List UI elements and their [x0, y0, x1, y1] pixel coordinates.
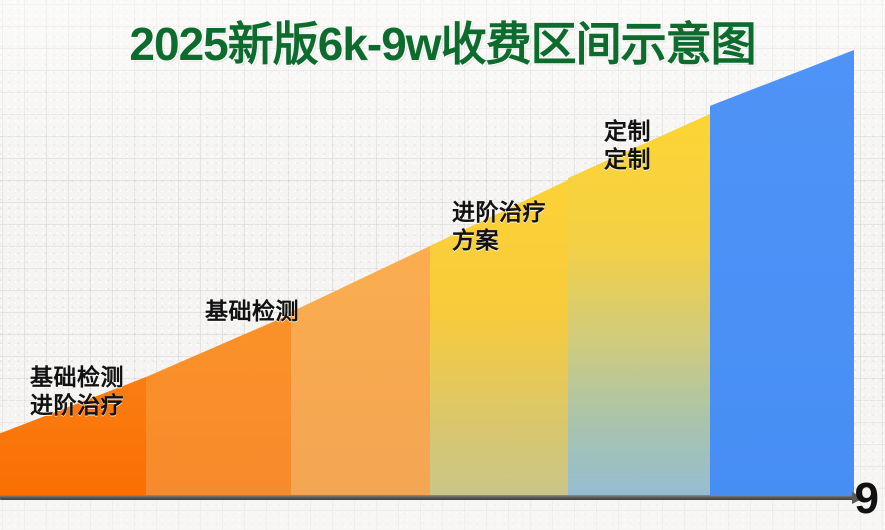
chart-segment-6[interactable]	[710, 50, 854, 497]
chart-segment-3[interactable]	[291, 246, 430, 497]
segment-label-3: 进阶治疗 方案	[452, 198, 546, 254]
segment-label-4-line2: 定制	[604, 145, 651, 173]
slide-canvas: 2025新版6k-9w收费区间示意图 基础检测	[0, 0, 885, 530]
chart-segment-6-fill	[710, 50, 854, 497]
segment-label-3-line2: 方案	[452, 226, 546, 254]
chart-segment-2[interactable]	[146, 314, 291, 497]
x-axis-line	[0, 495, 858, 500]
segment-label-1-line2: 进阶治疗	[30, 391, 124, 419]
segment-label-2: 基础检测	[205, 297, 299, 325]
page-number: 9	[855, 477, 879, 521]
segment-label-4: 定制 定制	[604, 117, 651, 173]
chart-segment-3-fill	[291, 246, 430, 497]
segment-label-2-line1: 基础检测	[205, 297, 299, 325]
segment-label-1: 基础检测 进阶治疗	[30, 363, 124, 419]
chart-segment-2-fill	[146, 314, 291, 497]
segment-label-4-line1: 定制	[604, 117, 651, 145]
segment-label-3-line1: 进阶治疗	[452, 198, 546, 226]
segment-label-1-line1: 基础检测	[30, 363, 124, 391]
staircase-chart: 基础检测 进阶治疗 基础检测 进阶治疗 方案 定制 定制 9	[0, 95, 885, 515]
